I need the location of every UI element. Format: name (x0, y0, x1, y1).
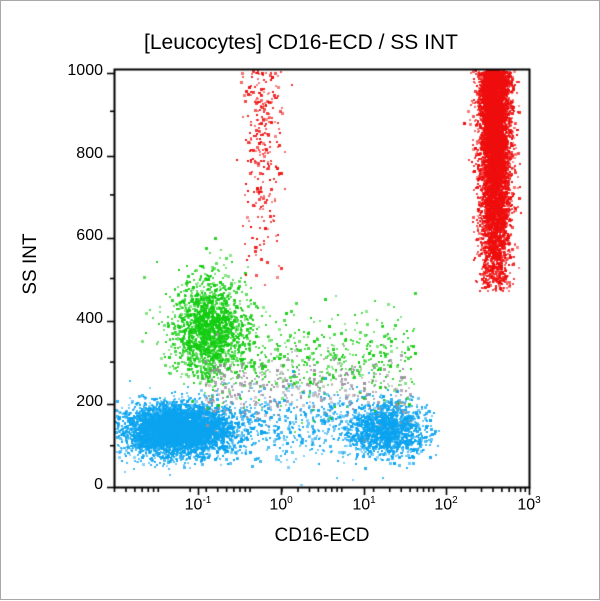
x-tick-exponent: 3 (535, 495, 541, 506)
y-tick-label: 400 (21, 310, 103, 328)
x-tick-exponent: -1 (202, 495, 211, 506)
x-tick-label: 10-1 (168, 495, 228, 514)
x-tick-mantissa: 10 (269, 496, 287, 513)
x-tick-mantissa: 10 (352, 496, 370, 513)
y-tick-label: 0 (21, 476, 103, 494)
x-tick-exponent: 2 (452, 495, 458, 506)
x-tick-mantissa: 10 (185, 496, 203, 513)
x-tick-mantissa: 10 (434, 496, 452, 513)
flow-cytometry-plot: [Leucocytes] CD16-ECD / SS INT SS INT CD… (0, 0, 600, 600)
y-axis-label: SS INT (20, 204, 42, 324)
y-tick-label: 800 (21, 145, 103, 163)
x-tick-exponent: 1 (370, 495, 376, 506)
x-tick-label: 101 (334, 495, 394, 514)
y-tick-label: 200 (21, 393, 103, 411)
x-tick-exponent: 0 (287, 495, 293, 506)
x-tick-label: 102 (416, 495, 476, 514)
x-tick-label: 103 (499, 495, 559, 514)
y-tick-label: 600 (21, 227, 103, 245)
x-tick-label: 100 (251, 495, 311, 514)
x-axis-label: CD16-ECD (114, 525, 530, 547)
x-tick-mantissa: 10 (517, 496, 535, 513)
y-tick-label: 1000 (21, 62, 103, 80)
